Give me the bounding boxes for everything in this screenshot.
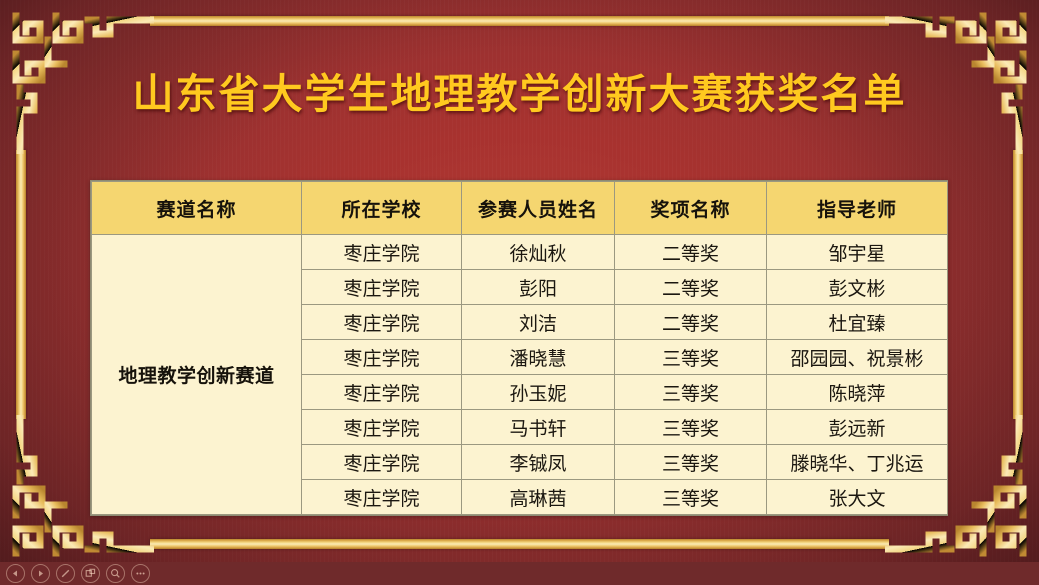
column-header-award: 奖项名称 — [615, 182, 767, 235]
award-cell: 二等奖 — [615, 235, 767, 270]
column-header-track: 赛道名称 — [92, 182, 302, 235]
student-name-cell: 彭阳 — [462, 270, 615, 305]
student-name-cell: 高琳茜 — [462, 480, 615, 515]
award-cell: 二等奖 — [615, 270, 767, 305]
award-table: 赛道名称 所在学校 参赛人员姓名 奖项名称 指导老师 地理教学创新赛道枣庄学院徐… — [91, 181, 948, 515]
column-header-student: 参赛人员姓名 — [462, 182, 615, 235]
award-cell: 三等奖 — [615, 340, 767, 375]
award-table-container: 赛道名称 所在学校 参赛人员姓名 奖项名称 指导老师 地理教学创新赛道枣庄学院徐… — [90, 180, 948, 516]
award-cell: 三等奖 — [615, 480, 767, 515]
school-cell: 枣庄学院 — [302, 340, 462, 375]
student-name-cell: 李铖凤 — [462, 445, 615, 480]
frame-bar-left — [16, 150, 26, 419]
advisor-cell: 彭远新 — [767, 410, 948, 445]
presentation-slide: 山东省大学生地理教学创新大赛获奖名单 赛道名称 所在学校 参赛人员姓名 奖项名称… — [0, 0, 1039, 585]
advisor-cell: 杜宜臻 — [767, 305, 948, 340]
page-title: 山东省大学生地理教学创新大赛获奖名单 — [0, 60, 1039, 120]
school-cell: 枣庄学院 — [302, 235, 462, 270]
award-cell: 三等奖 — [615, 445, 767, 480]
frame-bar-top — [150, 16, 889, 26]
slide-grid-icon[interactable] — [81, 564, 100, 583]
advisor-cell: 邵园园、祝景彬 — [767, 340, 948, 375]
student-name-cell: 孙玉妮 — [462, 375, 615, 410]
student-name-cell: 刘洁 — [462, 305, 615, 340]
school-cell: 枣庄学院 — [302, 445, 462, 480]
advisor-cell: 彭文彬 — [767, 270, 948, 305]
advisor-cell: 邹宇星 — [767, 235, 948, 270]
school-cell: 枣庄学院 — [302, 270, 462, 305]
award-cell: 二等奖 — [615, 305, 767, 340]
table-row: 地理教学创新赛道枣庄学院徐灿秋二等奖邹宇星 — [92, 235, 948, 270]
advisor-cell: 张大文 — [767, 480, 948, 515]
pen-icon[interactable] — [56, 564, 75, 583]
award-table-body: 地理教学创新赛道枣庄学院徐灿秋二等奖邹宇星枣庄学院彭阳二等奖彭文彬枣庄学院刘洁二… — [92, 235, 948, 515]
award-cell: 三等奖 — [615, 410, 767, 445]
more-options-icon[interactable] — [131, 564, 150, 583]
student-name-cell: 徐灿秋 — [462, 235, 615, 270]
advisor-cell: 滕晓华、丁兆运 — [767, 445, 948, 480]
column-header-school: 所在学校 — [302, 182, 462, 235]
previous-slide-icon[interactable] — [6, 564, 25, 583]
student-name-cell: 潘晓慧 — [462, 340, 615, 375]
presentation-toolbar — [0, 562, 1039, 585]
magnifier-icon[interactable] — [106, 564, 125, 583]
frame-bar-right — [1013, 150, 1023, 419]
frame-bar-bottom — [150, 539, 889, 549]
student-name-cell: 马书轩 — [462, 410, 615, 445]
table-header-row: 赛道名称 所在学校 参赛人员姓名 奖项名称 指导老师 — [92, 182, 948, 235]
school-cell: 枣庄学院 — [302, 480, 462, 515]
column-header-advisor: 指导老师 — [767, 182, 948, 235]
school-cell: 枣庄学院 — [302, 375, 462, 410]
school-cell: 枣庄学院 — [302, 410, 462, 445]
school-cell: 枣庄学院 — [302, 305, 462, 340]
award-cell: 三等奖 — [615, 375, 767, 410]
next-slide-icon[interactable] — [31, 564, 50, 583]
track-name-cell: 地理教学创新赛道 — [92, 235, 302, 515]
advisor-cell: 陈晓萍 — [767, 375, 948, 410]
